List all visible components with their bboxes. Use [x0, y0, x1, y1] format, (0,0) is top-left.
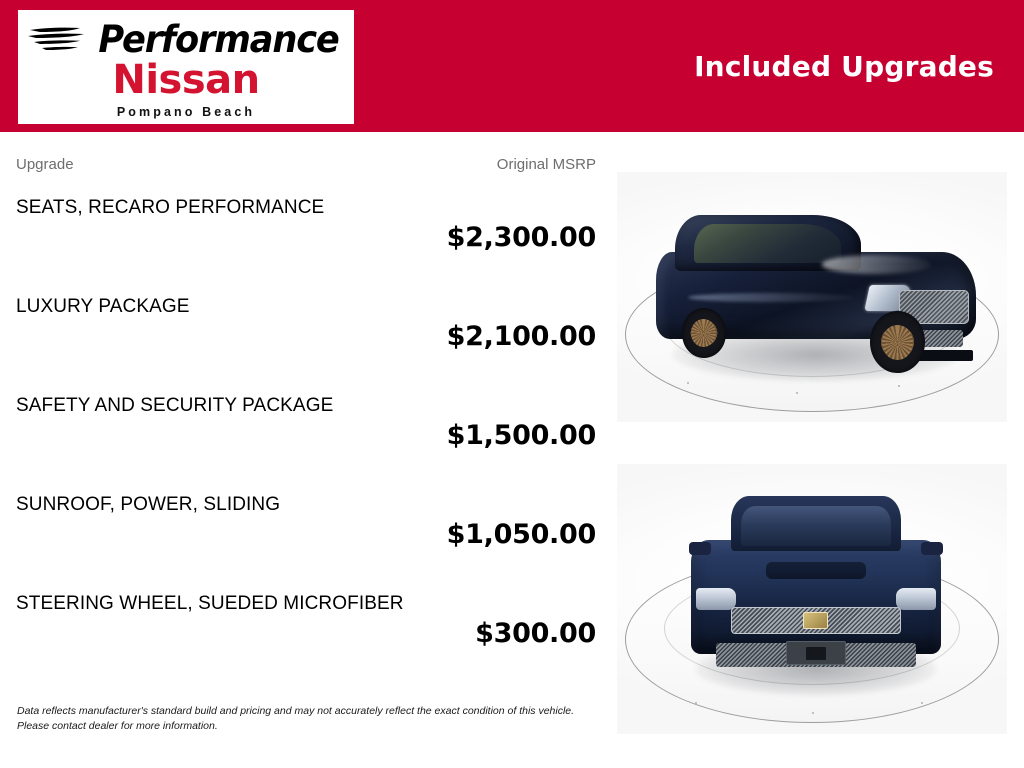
- vehicle-photo-front-three-quarter: [617, 172, 1007, 422]
- table-row: SUNROOF, POWER, SLIDING $1,050.00: [0, 487, 612, 586]
- upgrades-table: Upgrade Original MSRP SEATS, RECARO PERF…: [0, 132, 612, 768]
- table-row: SAFETY AND SECURITY PACKAGE $1,500.00: [0, 388, 612, 487]
- logo-text-city: Pompano Beach: [117, 105, 255, 119]
- car-headlight-left: [696, 588, 736, 610]
- table-row: LUXURY PACKAGE $2,100.00: [0, 289, 612, 388]
- car-headlight-right: [896, 588, 936, 610]
- table-row: SEATS, RECARO PERFORMANCE $2,300.00: [0, 190, 612, 289]
- upgrade-name: LUXURY PACKAGE: [16, 295, 436, 318]
- upgrade-price: $2,300.00: [0, 222, 596, 253]
- upgrade-name: SAFETY AND SECURITY PACKAGE: [16, 394, 436, 417]
- content-area: Upgrade Original MSRP SEATS, RECARO PERF…: [0, 132, 1024, 768]
- column-header-msrp: Original MSRP: [0, 156, 596, 173]
- upgrade-name: SEATS, RECARO PERFORMANCE: [16, 196, 436, 219]
- logo-primary-line: Performance: [18, 18, 354, 62]
- table-body: SEATS, RECARO PERFORMANCE $2,300.00 LUXU…: [0, 190, 612, 685]
- dealer-logo: Performance Nissan Pompano Beach: [18, 10, 354, 124]
- car-hood-vent: [766, 562, 866, 579]
- header-banner: Performance Nissan Pompano Beach Include…: [0, 0, 1024, 132]
- upgrade-name: SUNROOF, POWER, SLIDING: [16, 493, 436, 516]
- upgrade-price: $1,500.00: [0, 420, 596, 451]
- car-side-highlight: [688, 293, 854, 302]
- vehicle-illustration: [656, 212, 976, 367]
- car-license-plate-bracket: [786, 641, 846, 665]
- table-header-row: Upgrade Original MSRP: [0, 156, 612, 178]
- upgrade-price: $300.00: [0, 618, 596, 649]
- upgrade-price: $1,050.00: [0, 519, 596, 550]
- logo-text-performance: Performance: [98, 21, 338, 58]
- speed-wing-swoosh-icon: [28, 24, 90, 56]
- car-side-glass: [694, 224, 841, 263]
- logo-text-nissan: Nissan: [112, 60, 259, 100]
- car-emblem: [803, 612, 828, 629]
- upgrades-page: Performance Nissan Pompano Beach Include…: [0, 0, 1024, 768]
- car-rear-wheel: [682, 308, 727, 358]
- page-title: Included Upgrades: [694, 0, 994, 132]
- vehicle-photo-front: [617, 464, 1007, 734]
- disclaimer-text: Data reflects manufacturer's standard bu…: [17, 704, 602, 734]
- vehicle-illustration: [691, 496, 941, 680]
- car-front-wheel: [870, 311, 924, 373]
- table-row: STEERING WHEEL, SUEDED MICROFIBER $300.0…: [0, 586, 612, 685]
- vehicle-photo-column: [612, 132, 1024, 768]
- car-hood-highlight: [822, 255, 931, 274]
- car-mirror-right: [921, 542, 943, 555]
- car-mirror-left: [689, 542, 711, 555]
- upgrade-name: STEERING WHEEL, SUEDED MICROFIBER: [16, 592, 436, 615]
- car-windshield: [741, 506, 891, 546]
- upgrade-price: $2,100.00: [0, 321, 596, 352]
